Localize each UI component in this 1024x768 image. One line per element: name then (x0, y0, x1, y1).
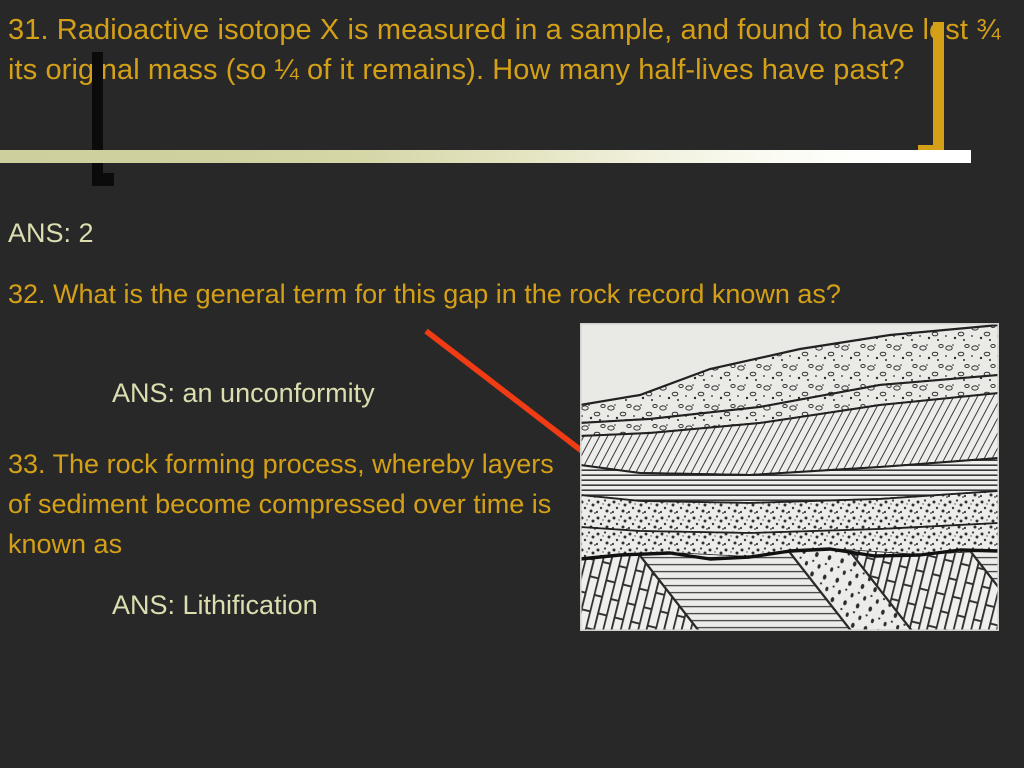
page-title: 31. Radioactive isotope X is measured in… (8, 10, 1008, 90)
slide-canvas: 31. Radioactive isotope X is measured in… (0, 0, 1024, 768)
cross-section-drawing (580, 323, 999, 631)
geologic-cross-section-figure (580, 323, 999, 631)
answer-32: ANS: an unconformity (112, 375, 375, 411)
gradient-divider-bar (0, 150, 971, 163)
question-33: 33. The rock forming process, whereby la… (8, 444, 568, 564)
answer-31: ANS: 2 (8, 215, 94, 251)
question-32: 32. What is the general term for this ga… (8, 274, 1008, 314)
answer-33: ANS: Lithification (112, 587, 318, 623)
